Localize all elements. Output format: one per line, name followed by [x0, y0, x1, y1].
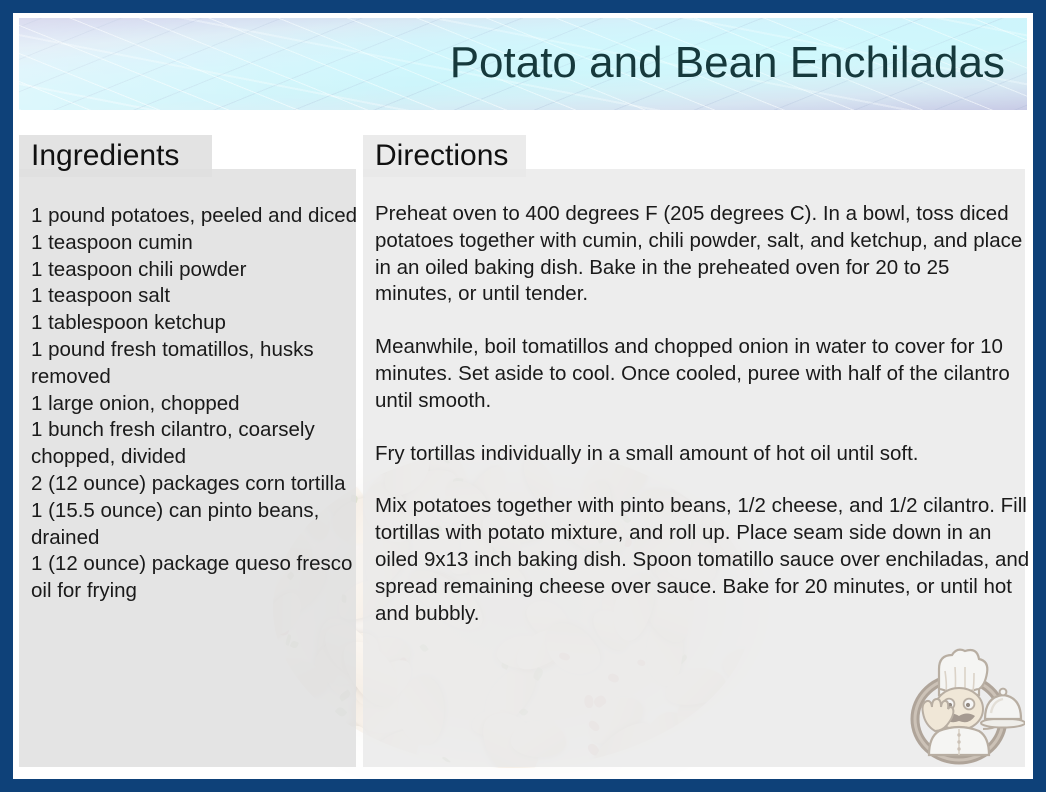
- page-title: Potato and Bean Enchiladas: [450, 40, 1005, 86]
- list-item: 1 (15.5 ounce) can pinto beans, drained: [31, 498, 361, 552]
- list-item: 1 teaspoon chili powder: [31, 257, 361, 284]
- recipe-slide: Potato and Bean Enchiladas Ingredients 1…: [0, 0, 1046, 792]
- directions-heading: Directions: [375, 141, 508, 171]
- ingredients-heading-tab: Ingredients: [19, 135, 212, 177]
- list-item: 1 large onion, chopped: [31, 391, 361, 418]
- directions-heading-tab: Directions: [363, 135, 526, 177]
- direction-step: Meanwhile, boil tomatillos and chopped o…: [375, 334, 1030, 414]
- list-item: 2 (12 ounce) packages corn tortilla: [31, 471, 361, 498]
- direction-step: Mix potatoes together with pinto beans, …: [375, 493, 1030, 627]
- directions-steps: Preheat oven to 400 degrees F (205 degre…: [375, 201, 1030, 627]
- list-item: 1 pound fresh tomatillos, husks removed: [31, 337, 361, 391]
- ingredients-list: 1 pound potatoes, peeled and diced 1 tea…: [31, 203, 361, 605]
- direction-step: Preheat oven to 400 degrees F (205 degre…: [375, 201, 1030, 308]
- direction-step: Fry tortillas individually in a small am…: [375, 441, 1030, 468]
- list-item: 1 (12 ounce) package queso fresco: [31, 551, 361, 578]
- slide-inner-canvas: Potato and Bean Enchiladas Ingredients 1…: [13, 13, 1033, 779]
- chef-with-cloche-logo: [899, 645, 1025, 769]
- list-item: 1 teaspoon cumin: [31, 230, 361, 257]
- ingredients-heading: Ingredients: [31, 141, 179, 171]
- title-banner: Potato and Bean Enchiladas: [19, 18, 1027, 110]
- list-item: 1 tablespoon ketchup: [31, 310, 361, 337]
- list-item: 1 pound potatoes, peeled and diced: [31, 203, 361, 230]
- list-item: 1 bunch fresh cilantro, coarsely chopped…: [31, 417, 361, 471]
- list-item: oil for frying: [31, 578, 361, 605]
- list-item: 1 teaspoon salt: [31, 283, 361, 310]
